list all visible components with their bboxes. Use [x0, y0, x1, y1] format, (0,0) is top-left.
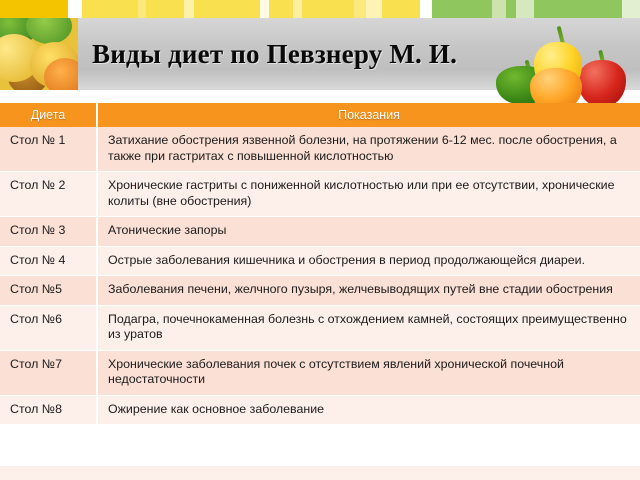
page-title: Виды диет по Певзнеру М. И. — [92, 38, 532, 70]
banner-segment-yellow-6 — [382, 0, 420, 18]
table-bottom-fill — [0, 466, 640, 480]
column-header-diet: Диета — [0, 103, 97, 127]
cell-diet: Стол №6 — [0, 305, 97, 350]
banner-segment-yellow-3 — [194, 0, 260, 18]
banner-segment-yellow-pale-2 — [293, 0, 302, 18]
cell-diet: Стол № 4 — [0, 246, 97, 276]
slide-root: Виды диет по Певзнеру М. И. — [0, 0, 640, 480]
table-row: Стол №5Заболевания печени, желчного пузы… — [0, 276, 640, 306]
banner-segment-yellow-pale-1 — [184, 0, 194, 18]
banner-segment-yellow-light-2 — [354, 0, 366, 18]
cell-diet: Стол №7 — [0, 350, 97, 395]
banner-segment-yellow-2 — [146, 0, 184, 18]
banner-segment-white-gap-1 — [68, 0, 82, 18]
banner-segment-yellow-pale-3 — [366, 0, 382, 18]
vegetables-photo — [0, 18, 78, 90]
banner-segment-white-gap-2 — [260, 0, 269, 18]
cell-diet: Стол №8 — [0, 395, 97, 425]
banner-segment-green-2 — [506, 0, 516, 18]
banner-segment-green-pale-2 — [516, 0, 534, 18]
cell-diet: Стол № 1 — [0, 127, 97, 172]
cell-diet: Стол № 2 — [0, 172, 97, 217]
table-row: Стол №8Ожирение как основное заболевание — [0, 395, 640, 425]
cell-indication: Заболевания печени, желчного пузыря, жел… — [97, 276, 640, 306]
banner-segment-yellow-4 — [269, 0, 293, 18]
table-row: Стол № 1Затихание обострения язвенной бо… — [0, 127, 640, 172]
banner-segment-yellow-light-1 — [138, 0, 146, 18]
banner-segment-yellow-1 — [82, 0, 138, 18]
diet-table-container: Диета Показания Стол № 1Затихание обостр… — [0, 103, 640, 480]
banner-segment-white-gap-3 — [420, 0, 432, 18]
cell-indication: Атонические запоры — [97, 217, 640, 247]
cell-indication: Затихание обострения язвенной болезни, н… — [97, 127, 640, 172]
cell-indication: Острые заболевания кишечника и обострени… — [97, 246, 640, 276]
banner-segment-green-pale-3 — [622, 0, 640, 18]
table-header-row: Диета Показания — [0, 103, 640, 127]
cell-indication: Хронические гастриты с пониженной кислот… — [97, 172, 640, 217]
table-row: Стол №6Подагра, почечнокаменная болезнь … — [0, 305, 640, 350]
banner-segment-green-1 — [432, 0, 492, 18]
banner-segment-gold-block — [0, 0, 68, 18]
orange-fruit-icon — [44, 58, 78, 90]
table-header: Диета Показания — [0, 103, 640, 127]
table-row: Стол № 3Атонические запоры — [0, 217, 640, 247]
banner-segment-green-3 — [534, 0, 622, 18]
column-header-indications: Показания — [97, 103, 640, 127]
green-vegetable-icon — [26, 18, 72, 44]
table-row: Стол №7Хронические заболевания почек с о… — [0, 350, 640, 395]
banner-segment-green-pale-1 — [492, 0, 506, 18]
cell-diet: Стол № 3 — [0, 217, 97, 247]
cell-indication: Ожирение как основное заболевание — [97, 395, 640, 425]
cell-indication: Хронические заболевания почек с отсутств… — [97, 350, 640, 395]
table-body: Стол № 1Затихание обострения язвенной бо… — [0, 127, 640, 425]
banner-segment-yellow-5 — [302, 0, 354, 18]
cell-indication: Подагра, почечнокаменная болезнь с отхож… — [97, 305, 640, 350]
title-band: Виды диет по Певзнеру М. И. — [0, 18, 640, 90]
table-row: Стол № 2Хронические гастриты с пониженно… — [0, 172, 640, 217]
top-decorative-banner — [0, 0, 640, 18]
table-row: Стол № 4Острые заболевания кишечника и о… — [0, 246, 640, 276]
cell-diet: Стол №5 — [0, 276, 97, 306]
peppers-decoration — [490, 20, 640, 114]
diet-table: Диета Показания Стол № 1Затихание обостр… — [0, 103, 640, 425]
